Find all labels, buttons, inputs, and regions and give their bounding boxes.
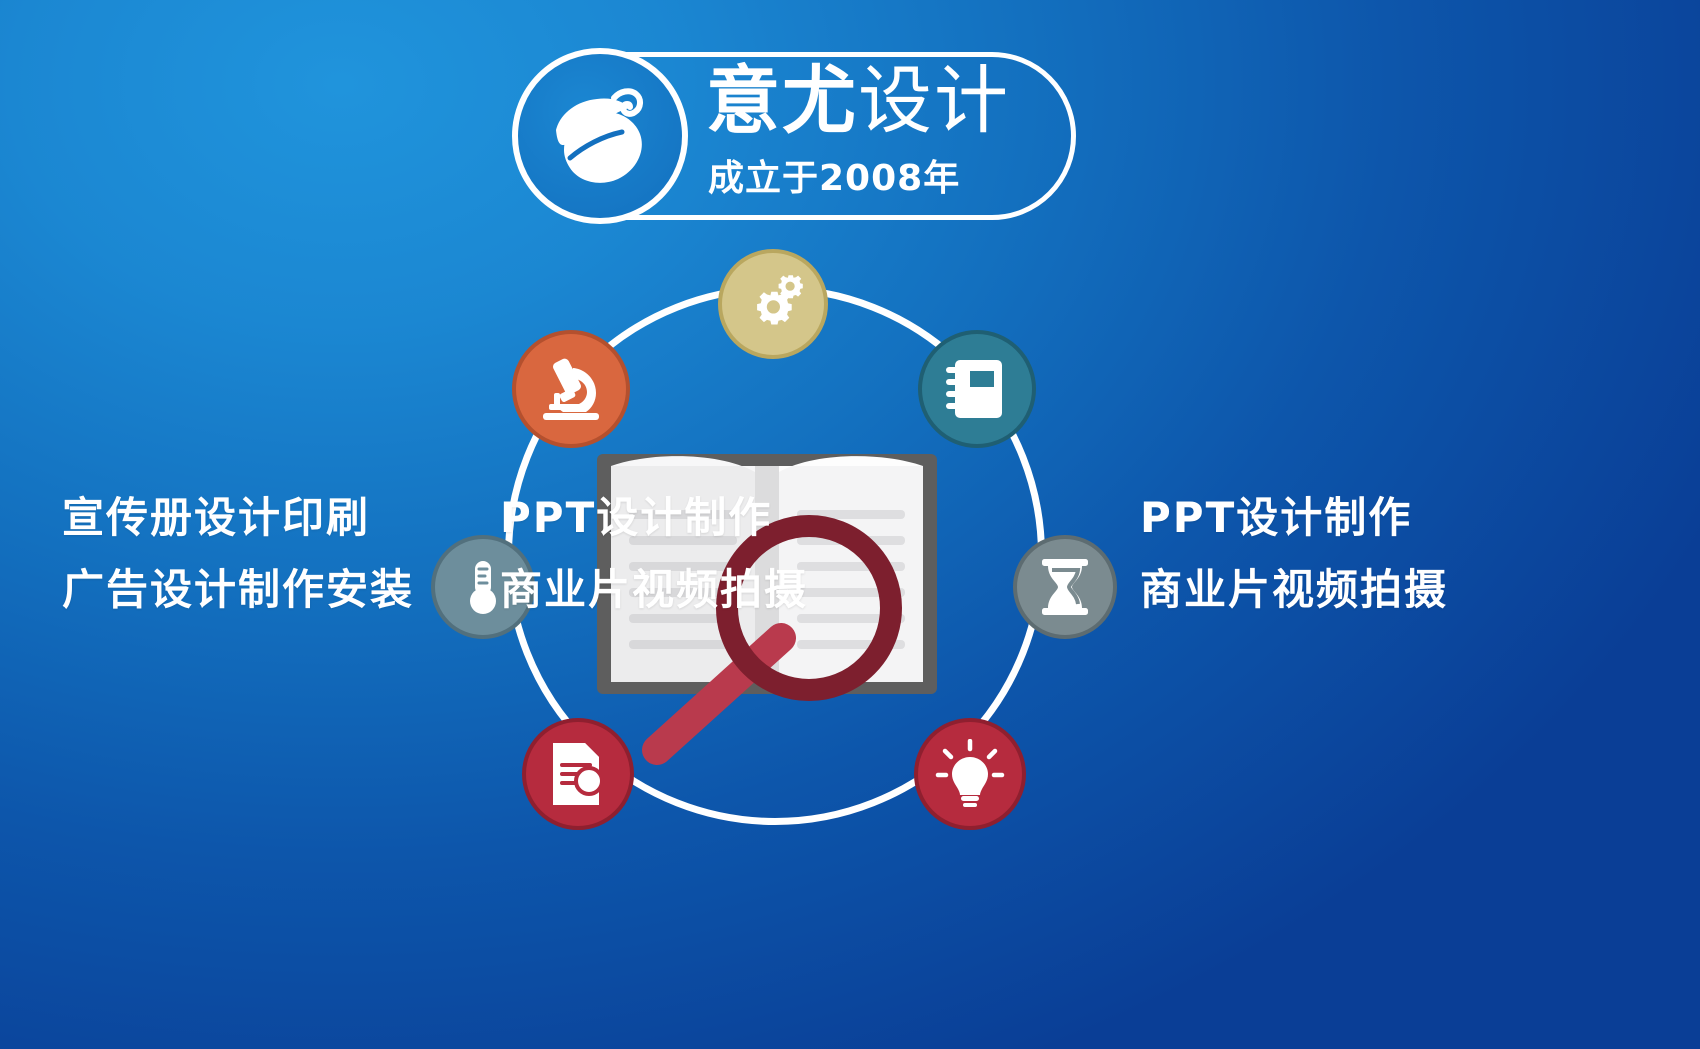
microscope-icon (533, 351, 609, 427)
service-text-left: 宣传册设计印刷 广告设计制作安装 (62, 482, 414, 626)
service-text-left-line2: 广告设计制作安装 (62, 554, 414, 626)
service-text-right-line2: 商业片视频拍摄 (1140, 554, 1448, 626)
brand-name-bold: 意尤 (706, 58, 858, 144)
brand-logo: 意尤设计 成立于2008年 (516, 52, 1076, 220)
notebook-icon (942, 354, 1012, 424)
node-gears[interactable] (718, 249, 828, 359)
service-text-middle-line1: PPT设计制作 (500, 482, 808, 554)
service-text-middle-line2: 商业片视频拍摄 (500, 554, 808, 626)
service-text-right: PPT设计制作 商业片视频拍摄 (1140, 482, 1448, 626)
service-text-left-line1: 宣传册设计印刷 (62, 482, 414, 554)
node-hourglass[interactable] (1013, 535, 1117, 639)
gears-icon (736, 267, 810, 341)
brand-name: 意尤设计 (706, 58, 1010, 144)
brand-tagline: 成立于2008年 (708, 156, 960, 202)
brand-name-thin: 设计 (858, 58, 1010, 144)
service-text-middle: PPT设计制作 商业片视频拍摄 (500, 482, 808, 626)
node-microscope[interactable] (512, 330, 630, 448)
slide-canvas: 意尤设计 成立于2008年 (0, 0, 1700, 1049)
node-notebook[interactable] (918, 330, 1036, 448)
hourglass-icon (1036, 556, 1094, 618)
service-text-right-line1: PPT设计制作 (1140, 482, 1448, 554)
bird-emblem-icon (512, 48, 688, 224)
